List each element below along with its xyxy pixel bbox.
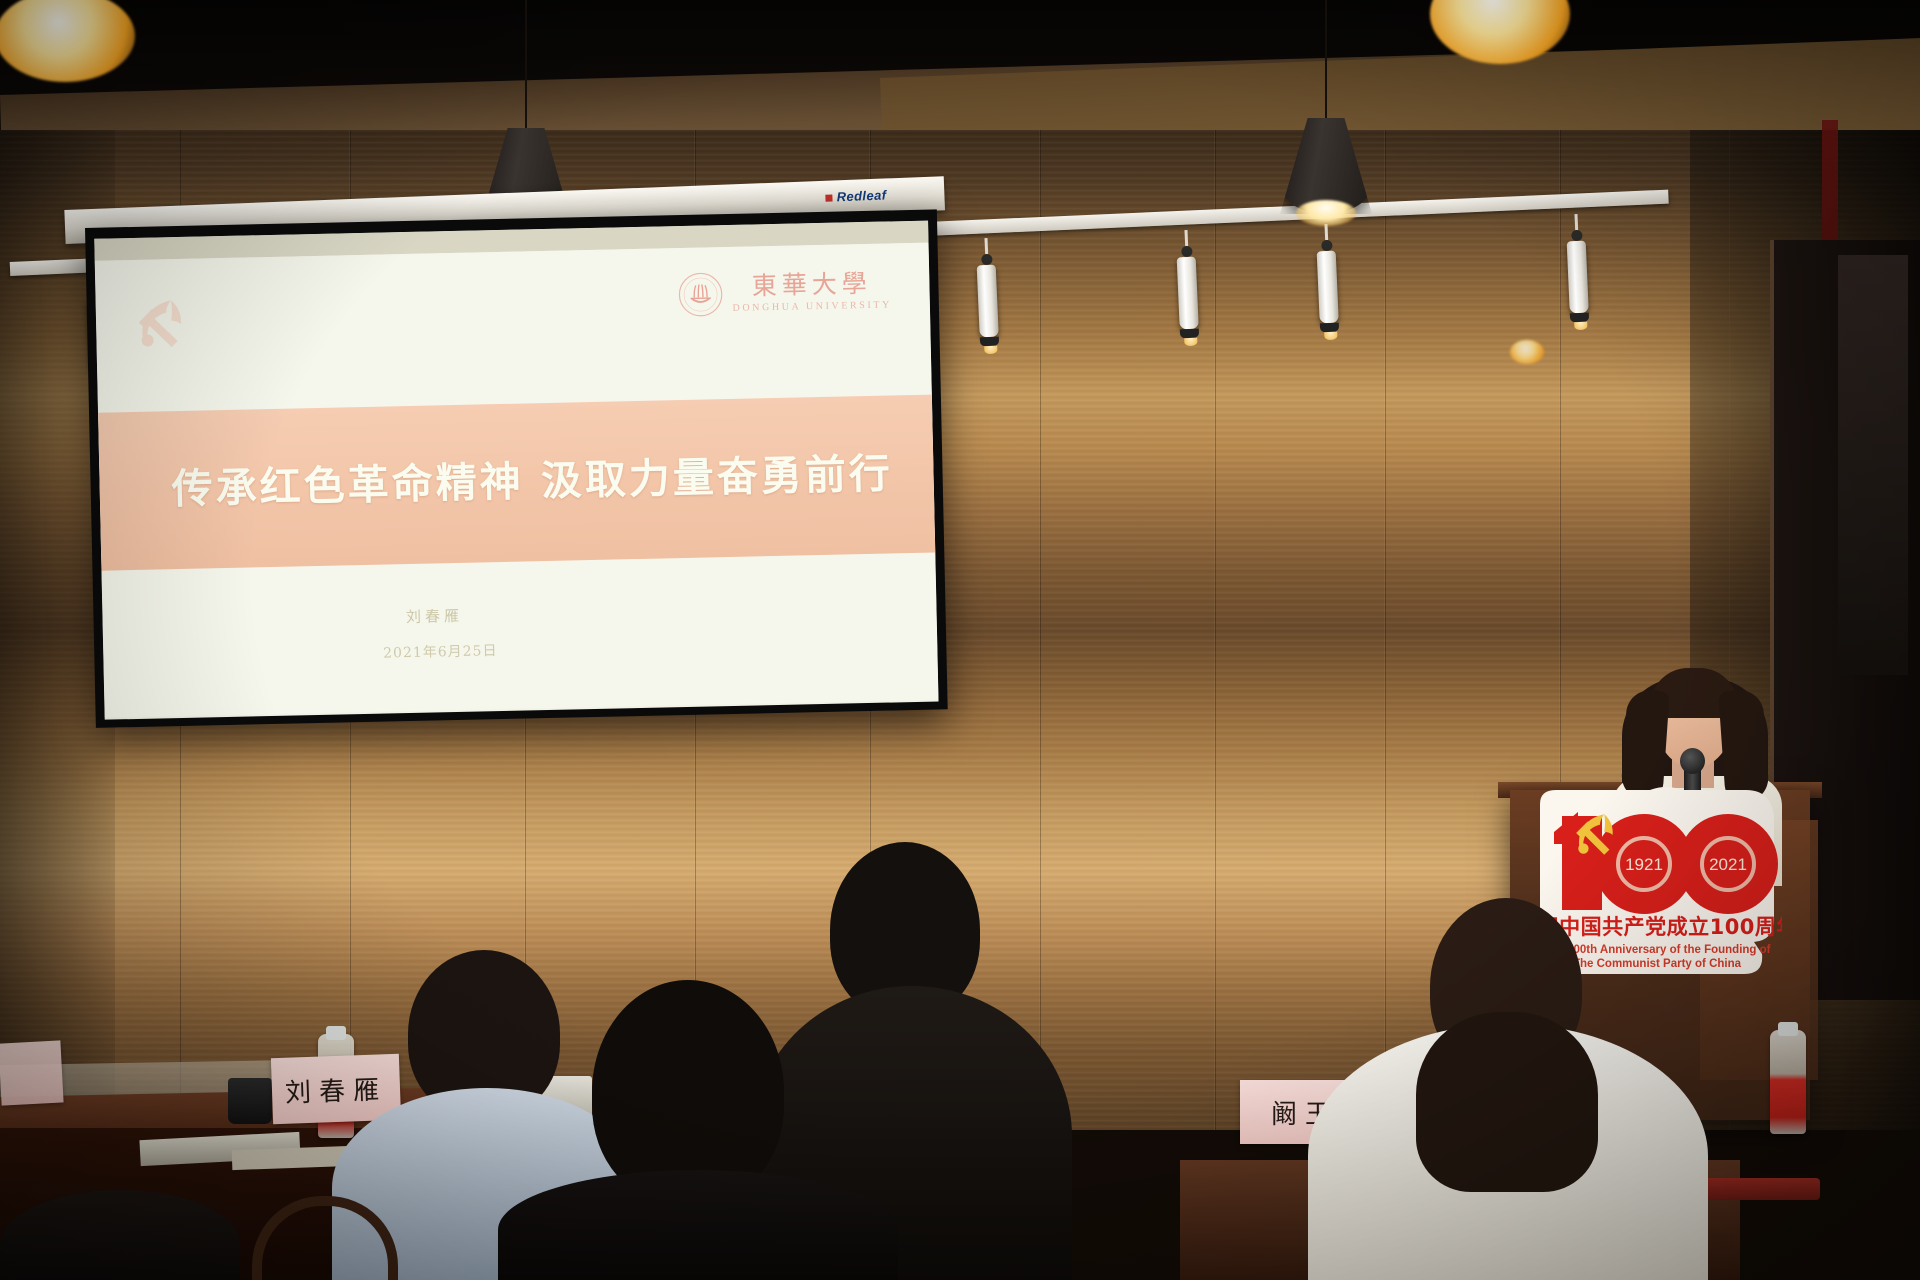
university-logo: 東華大學 DONGHUA UNIVERSITY	[677, 267, 892, 318]
slide-date: 2021年6月25日	[103, 631, 937, 669]
university-name-cn: 東華大學	[751, 271, 872, 299]
water-bottle	[1770, 1030, 1806, 1134]
hammer-and-sickle-icon	[131, 293, 196, 354]
microphone-head-icon	[1680, 748, 1705, 774]
donghua-university-seal-icon	[677, 271, 724, 318]
ceiling-light-orb	[1510, 340, 1544, 364]
name-card	[0, 1040, 64, 1105]
pendant-lamp	[1280, 0, 1372, 226]
emblem-year-end: 2021	[1709, 855, 1747, 874]
projector-brand-label: Redleaf	[836, 187, 886, 204]
emblem-headline-en-1: The 100th Anniversary of the Founding of	[1543, 944, 1770, 956]
bottle-cap	[326, 1026, 346, 1040]
emblem-headline-en-2: The Communist Party of China	[1573, 958, 1742, 970]
bottle-cap	[1778, 1022, 1798, 1036]
lecture-hall-photo: Redleaf	[0, 0, 1920, 1280]
brand-dot-icon	[825, 195, 832, 202]
projection-screen: 東華大學 DONGHUA UNIVERSITY 传承红色革命精神 汲取力量奋勇前…	[85, 209, 948, 727]
red-object-on-table	[1700, 1178, 1820, 1200]
presentation-slide: 東華大學 DONGHUA UNIVERSITY 传承红色革命精神 汲取力量奋勇前…	[95, 243, 939, 718]
paper-sheet	[232, 1146, 353, 1170]
emblem-headline-cn: 庆祝中国共产党成立100周年	[1532, 915, 1782, 939]
name-card-text: 刘春雁	[284, 1069, 387, 1110]
side-door-panel	[1838, 255, 1908, 675]
university-name-en: DONGHUA UNIVERSITY	[732, 299, 891, 313]
emblem-year-start: 1921	[1625, 855, 1663, 874]
coffee-cup	[228, 1078, 272, 1124]
slide-presenter-name: 刘春雁	[102, 595, 936, 634]
